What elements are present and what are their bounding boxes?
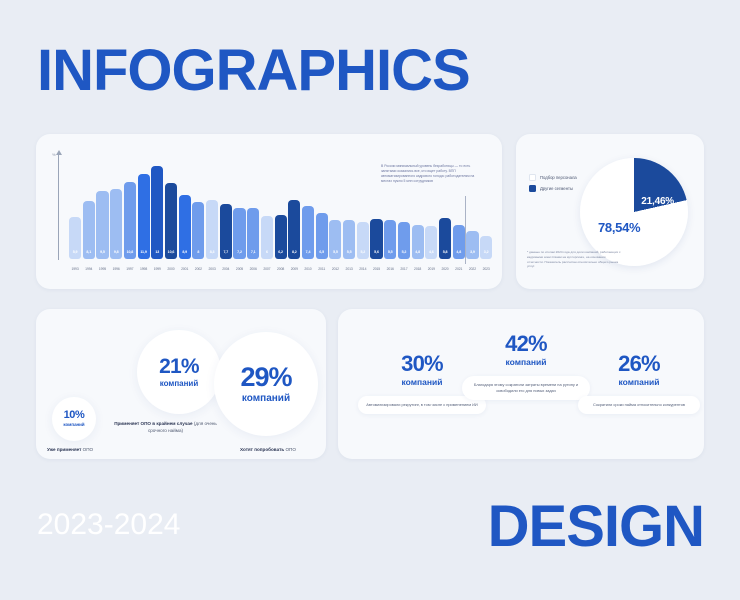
bar: 5,5 [343,220,355,259]
bar-value-label: 5,5 [384,250,396,254]
bar-value-label: 8,9 [179,250,191,254]
bar-value-label: 8,1 [83,250,95,254]
x-tick-label: 2007 [261,267,273,271]
caption-strong: Уже применяет [47,447,81,452]
stat-percent: 42% [462,333,590,355]
bar: 8 [192,202,204,259]
x-tick-label: 1996 [110,267,122,271]
circles-card: 10% компаний Уже применяет ОПО 21% компа… [36,309,326,459]
bar-value-label: 10,8 [124,250,136,254]
x-tick-label: 2000 [165,267,177,271]
bar-value-label: 5,5 [343,250,355,254]
bar-value-label: 11,9 [138,250,150,254]
stats-card: 30% компаний Автоматизировали рекрутинг,… [338,309,704,459]
pie-legend: Подбор персонала Другие сегменты [529,174,577,196]
legend-swatch-icon [529,185,536,192]
pie-slice-label-podbor: 78,54% [598,220,640,235]
bar-value-label: 5,8 [439,250,451,254]
circle-caption-10: Уже применяет ОПО [47,447,157,454]
bar: 8,2 [288,200,300,259]
circle-stat-29: 29% компаний [214,332,318,436]
x-tick-label: 2004 [220,267,232,271]
bar: 10,8 [124,182,136,259]
x-tick-label: 2010 [302,267,314,271]
x-tick-label: 2011 [316,267,328,271]
bar: 5,5 [329,220,341,259]
caption-rest: ОПО [284,447,296,452]
bar-value-label: 4,8 [453,250,465,254]
bar: 3,2 [480,236,492,259]
bar-value-label: 4,8 [412,250,424,254]
circle-caption-21: Применяет ОПО в крайнем случае (для очен… [108,421,223,435]
bar: 5,5 [384,220,396,259]
circle-stat-21: 21% компаний [137,330,221,414]
footer-year: 2023-2024 [37,510,180,540]
pie-chart-card: Подбор персонала Другие сегменты 21,46% … [516,134,704,289]
bar-chart-plot-area: % 5,98,19,59,810,811,91310,68,988,37,77,… [58,148,492,281]
x-tick-label: 2013 [343,267,355,271]
x-tick-label: 2008 [275,267,287,271]
x-tick-label: 2023 [480,267,492,271]
circle-percent: 10% [64,410,85,421]
bar: 11,9 [138,174,150,259]
x-tick-label: 2001 [179,267,191,271]
bar: 5,2 [357,222,369,259]
circle-caption-29: Хотят попробовать ОПО [220,447,316,454]
pie-footnote: * данные по итогам 2024 года для доли ко… [527,250,621,269]
bar: 5,9 [69,217,81,259]
footer-design: DESIGN [488,498,704,556]
x-tick-label: 2003 [206,267,218,271]
bar: 5,2 [398,222,410,259]
bar: 7,2 [233,208,245,259]
bar: 7,1 [247,208,259,259]
caption-strong: Хотят попробовать [240,447,284,452]
stat-note-pill: Благодаря этому сократили затраты времен… [462,376,590,400]
bar-value-label: 13 [151,250,163,254]
stat-block-26: 26% компаний Сократили сроки найма относ… [578,353,700,414]
x-tick-label: 2017 [398,267,410,271]
pie-slice-label-other: 21,46% [641,196,674,207]
bar-value-label: 8,2 [288,250,300,254]
x-tick-label: 2009 [288,267,300,271]
stat-unit: компаний [462,358,590,367]
x-tick-label: 2022 [466,267,478,271]
y-axis-label: % [52,152,56,157]
x-tick-label: 2019 [425,267,437,271]
stat-percent: 26% [578,353,700,375]
bar-value-label: 5,2 [398,250,410,254]
bar: 4,8 [412,225,424,259]
x-tick-label: 1995 [96,267,108,271]
circle-unit: компаний [63,423,84,427]
x-tick-label: 1997 [124,267,136,271]
x-tick-label: 1999 [151,267,163,271]
legend-label: Подбор персонала [540,175,577,180]
bar-value-label: 7,7 [220,250,232,254]
bar-value-label: 5,6 [370,250,382,254]
y-axis: % [58,154,59,260]
x-tick-label: 1993 [69,267,81,271]
circle-percent: 21% [159,356,199,377]
bar-value-label: 3,9 [466,250,478,254]
legend-item-podbor: Подбор персонала [529,174,577,181]
bar: 7,7 [220,204,232,259]
x-tick-label: 1994 [83,267,95,271]
chart-annotation: В России минимальный уровень безработицы… [381,164,485,184]
bar-value-label: 6 [261,250,273,254]
bar-value-label: 10,6 [165,250,177,254]
bar: 4,6 [425,226,437,259]
bar: 3,9 [466,231,478,259]
legend-item-other: Другие сегменты [529,185,577,192]
bar-value-label: 5,9 [69,250,81,254]
circle-unit: компаний [160,380,199,388]
circle-unit: компаний [242,394,290,404]
bar-value-label: 5,5 [329,250,341,254]
bar: 6,2 [275,215,287,259]
x-tick-label: 2020 [439,267,451,271]
bar-value-label: 9,5 [96,250,108,254]
stat-block-42: 42% компаний Благодаря этому сократили з… [462,333,590,400]
legend-label: Другие сегменты [540,186,573,191]
bar-chart-card: % 5,98,19,59,810,811,91310,68,988,37,77,… [36,134,502,289]
x-tick-label: 2005 [233,267,245,271]
bar: 5,6 [370,219,382,259]
x-tick-label: 2006 [247,267,259,271]
stat-unit: компаний [578,378,700,387]
bar: 13 [151,166,163,259]
circle-percent: 29% [240,364,291,391]
bar-value-label: 8,3 [206,250,218,254]
x-tick-label: 2014 [357,267,369,271]
bar: 8,3 [206,200,218,259]
x-tick-label: 2002 [192,267,204,271]
annotation-leader-line [465,196,466,264]
bar-value-label: 7,2 [233,250,245,254]
bar-value-label: 7,4 [302,250,314,254]
bar: 9,5 [96,191,108,259]
bar-value-label: 4,6 [425,250,437,254]
bar: 4,8 [453,225,465,259]
bar: 9,8 [110,189,122,259]
circle-stat-10: 10% компаний [52,397,96,441]
bar: 8,9 [179,195,191,259]
x-tick-label: 2012 [329,267,341,271]
bar: 10,6 [165,183,177,259]
x-tick-label: 2016 [384,267,396,271]
bar-value-label: 6,2 [275,250,287,254]
bar: 6,5 [316,213,328,259]
caption-strong: Применяет ОПО в крайнем случае [114,421,192,426]
bar-value-label: 9,8 [110,250,122,254]
bar-value-label: 5,2 [357,250,369,254]
bar-value-label: 8 [192,250,204,254]
bar-value-label: 6,5 [316,250,328,254]
x-tick-label: 1998 [138,267,150,271]
page-title: INFOGRAPHICS [37,42,470,100]
x-tick-label: 2015 [370,267,382,271]
bar-value-label: 7,1 [247,250,259,254]
bar-value-label: 3,2 [480,250,492,254]
stat-note-pill: Сократили сроки найма относительно конку… [578,396,700,414]
bar: 8,1 [83,201,95,259]
x-axis-tick-labels: 1993199419951996199719981999200020012002… [69,267,492,271]
caption-rest: ОПО [81,447,93,452]
bar: 7,4 [302,206,314,259]
legend-swatch-icon [529,174,536,181]
bar: 5,8 [439,218,451,259]
x-tick-label: 2021 [453,267,465,271]
bar: 6 [261,216,273,259]
x-tick-label: 2018 [412,267,424,271]
